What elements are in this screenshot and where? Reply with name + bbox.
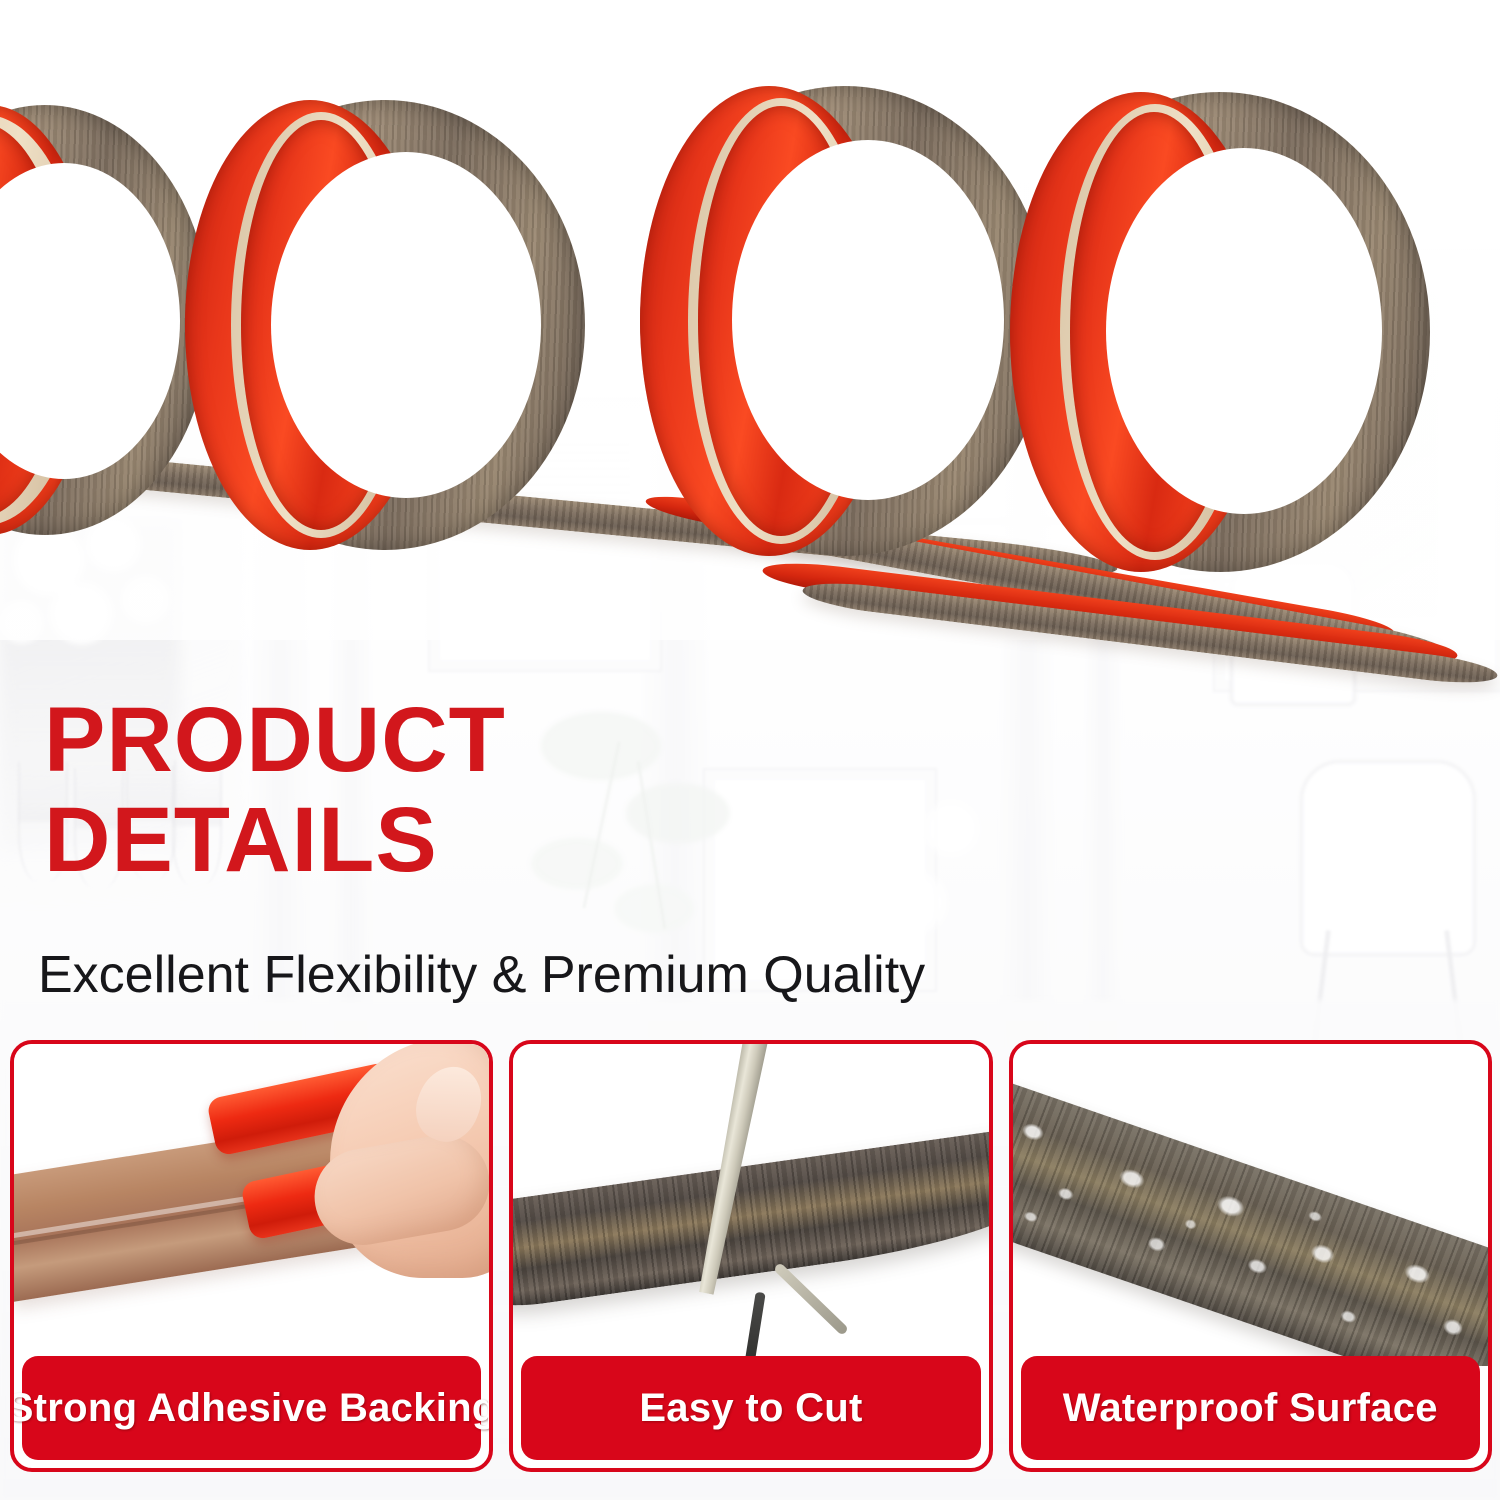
product-details-infographic: PRODUCT DETAILS Excellent Flexibility & … (0, 0, 1500, 1500)
hero-coiled-trim-image (0, 0, 1500, 720)
feature-caption-bar: Waterproof Surface (1021, 1356, 1480, 1460)
feature-image-adhesive (14, 1044, 489, 1366)
trim-coil (1010, 92, 1430, 572)
feature-panel-waterproof: Waterproof Surface (1009, 1040, 1492, 1472)
page-title-line-2: DETAILS (44, 790, 744, 890)
feature-image-easy-cut (513, 1044, 988, 1366)
water-drop-icon (1013, 1070, 1488, 1366)
feature-image-waterproof (1013, 1044, 1488, 1366)
page-title-line-1: PRODUCT (44, 690, 744, 790)
wood-grain-trim-strip (513, 1126, 988, 1311)
feature-caption-label: Strong Adhesive Backing (10, 1386, 493, 1431)
coil-inner-hole (1106, 148, 1382, 514)
feature-panel-easy-cut: Easy to Cut (509, 1040, 992, 1472)
trim-coil (185, 100, 585, 550)
feature-caption-bar: Easy to Cut (521, 1356, 980, 1460)
feature-caption-label: Waterproof Surface (1063, 1386, 1438, 1431)
feature-panel-adhesive: Strong Adhesive Backing (10, 1040, 493, 1472)
feature-caption-bar: Strong Adhesive Backing (22, 1356, 481, 1460)
page-subtitle: Excellent Flexibility & Premium Quality (38, 944, 925, 1006)
scissors-handle (773, 1262, 849, 1336)
trim-coil (640, 86, 1050, 556)
scissors-handle (743, 1292, 766, 1366)
coil-inner-hole (732, 140, 1004, 500)
page-title: PRODUCT DETAILS (44, 690, 744, 890)
feature-panel-row: Strong Adhesive Backing Easy to Cut (10, 1040, 1492, 1472)
feature-caption-label: Easy to Cut (639, 1386, 862, 1431)
wood-grain-trim-strip (1013, 1070, 1488, 1366)
coil-inner-hole (271, 152, 541, 498)
